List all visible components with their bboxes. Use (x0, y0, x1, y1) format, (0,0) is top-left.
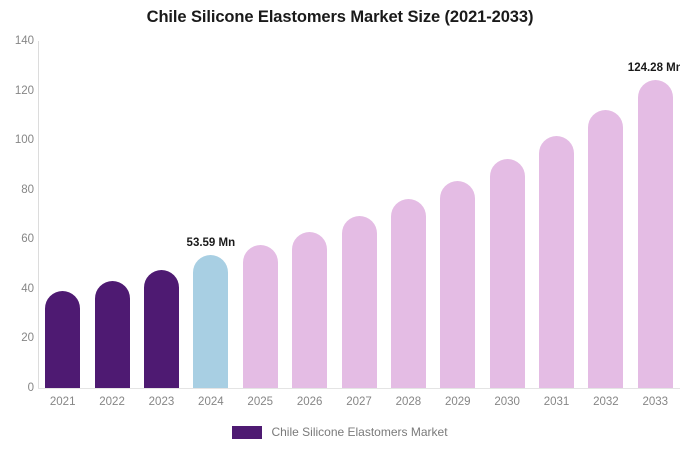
bar-2026[interactable] (292, 232, 327, 388)
y-axis-tick-40: 40 (0, 283, 34, 295)
y-axis-tick-80: 80 (0, 184, 34, 196)
y-axis-tick-0: 0 (0, 382, 34, 394)
bar-group-2028[interactable] (391, 199, 426, 388)
bar-2021[interactable] (45, 291, 80, 388)
x-axis-baseline (38, 388, 680, 389)
bar-2025[interactable] (243, 245, 278, 388)
bar-value-label-2033: 124.28 Mn (628, 62, 680, 74)
bar-group-2022[interactable] (95, 281, 130, 388)
bar-group-2021[interactable] (45, 291, 80, 388)
bar-value-label-2024: 53.59 Mn (187, 237, 236, 249)
y-axis-tick-100: 100 (0, 134, 34, 146)
bar-group-2031[interactable] (539, 136, 574, 388)
bar-group-2033[interactable]: 124.28 Mn (638, 80, 673, 388)
chart-container: Chile Silicone Elastomers Market Size (2… (0, 0, 680, 450)
bar-group-2024[interactable]: 53.59 Mn (193, 255, 228, 388)
bar-group-2027[interactable] (342, 216, 377, 388)
bar-group-2023[interactable] (144, 270, 179, 388)
bar-2030[interactable] (490, 159, 525, 388)
chart-legend: Chile Silicone Elastomers Market (0, 425, 680, 439)
bar-2024[interactable] (193, 255, 228, 388)
plot-area: 53.59 Mn124.28 Mn (38, 41, 680, 388)
bar-2031[interactable] (539, 136, 574, 388)
bar-group-2025[interactable] (243, 245, 278, 388)
bar-group-2032[interactable] (588, 110, 623, 388)
chart-title: Chile Silicone Elastomers Market Size (2… (0, 8, 680, 27)
y-axis-tick-120: 120 (0, 85, 34, 97)
legend-swatch-chile-silicone-elastomers-market (232, 426, 262, 439)
bar-2029[interactable] (440, 181, 475, 388)
bar-2027[interactable] (342, 216, 377, 388)
bar-group-2029[interactable] (440, 181, 475, 388)
bar-2023[interactable] (144, 270, 179, 388)
y-axis-tick-140: 140 (0, 35, 34, 47)
bar-2033[interactable] (638, 80, 673, 388)
y-axis-tick-60: 60 (0, 233, 34, 245)
legend-label-chile-silicone-elastomers-market: Chile Silicone Elastomers Market (271, 425, 447, 439)
x-axis-tick-2033: 2033 (625, 396, 680, 408)
bar-2032[interactable] (588, 110, 623, 388)
bar-2022[interactable] (95, 281, 130, 388)
bar-group-2030[interactable] (490, 159, 525, 388)
bar-2028[interactable] (391, 199, 426, 388)
y-axis-tick-20: 20 (0, 332, 34, 344)
bar-group-2026[interactable] (292, 232, 327, 388)
